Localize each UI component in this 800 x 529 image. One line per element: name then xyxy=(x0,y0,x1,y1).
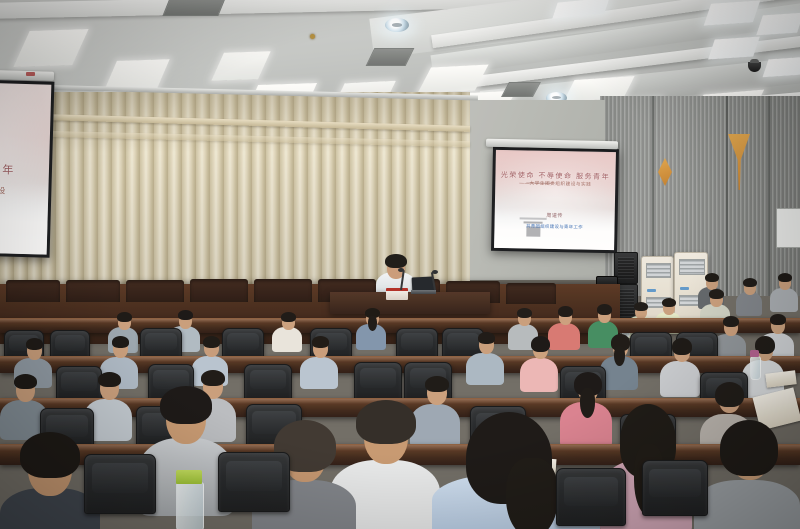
water-bottle xyxy=(176,482,204,529)
audience-person xyxy=(356,308,386,344)
side-screen-brand-logo xyxy=(26,72,35,76)
laptop-keyboard xyxy=(411,290,436,294)
front-chair xyxy=(254,279,312,302)
side-screen-title: 服务青年 xyxy=(0,160,49,179)
auditorium-seat[interactable] xyxy=(556,468,626,526)
side-screen-surface: 服务青年 组织建设 xyxy=(0,81,51,254)
bottle-cap xyxy=(750,350,759,357)
audience-person xyxy=(466,332,504,378)
front-chair xyxy=(126,280,184,302)
speaker-hair xyxy=(385,254,407,268)
front-chair xyxy=(66,280,120,302)
audience-person xyxy=(736,278,762,312)
speaker-nameplate xyxy=(386,288,408,300)
main-projection-screen: 光荣使命 不辱使命 服务青年 ——大学生团委组织建设与实践 周道传 共青团组织建… xyxy=(491,147,619,253)
side-projection-screen: 服务青年 组织建设 xyxy=(0,78,54,257)
water-bottle xyxy=(750,356,761,380)
auditorium-lecture-photo: 服务青年 组织建设 光荣使命 不辱使命 服务青年 ——大学生团委组织建设与实践 … xyxy=(0,0,800,529)
ponytail xyxy=(506,458,558,529)
audience-person xyxy=(520,336,558,384)
audience-person xyxy=(660,338,700,388)
podium-desk xyxy=(330,292,490,314)
audience-person xyxy=(770,272,798,308)
front-chair xyxy=(6,280,60,302)
front-chair xyxy=(506,283,556,304)
auditorium-seat[interactable] xyxy=(642,460,708,516)
front-chair xyxy=(190,279,248,302)
auditorium-seat[interactable] xyxy=(354,362,402,402)
auditorium-seat[interactable] xyxy=(84,454,156,514)
auditorium-seat[interactable] xyxy=(244,364,292,402)
audience-person xyxy=(694,420,800,529)
audience-person xyxy=(272,312,302,346)
side-screen-subtitle: 组织建设 xyxy=(0,183,49,197)
main-screen-surface: 光荣使命 不辱使命 服务青年 ——大学生团委组织建设与实践 周道传 共青团组织建… xyxy=(494,150,616,250)
bottle-cap xyxy=(176,470,202,484)
notebook xyxy=(765,370,796,388)
auditorium-seat[interactable] xyxy=(218,452,290,512)
audience-person xyxy=(300,336,338,382)
